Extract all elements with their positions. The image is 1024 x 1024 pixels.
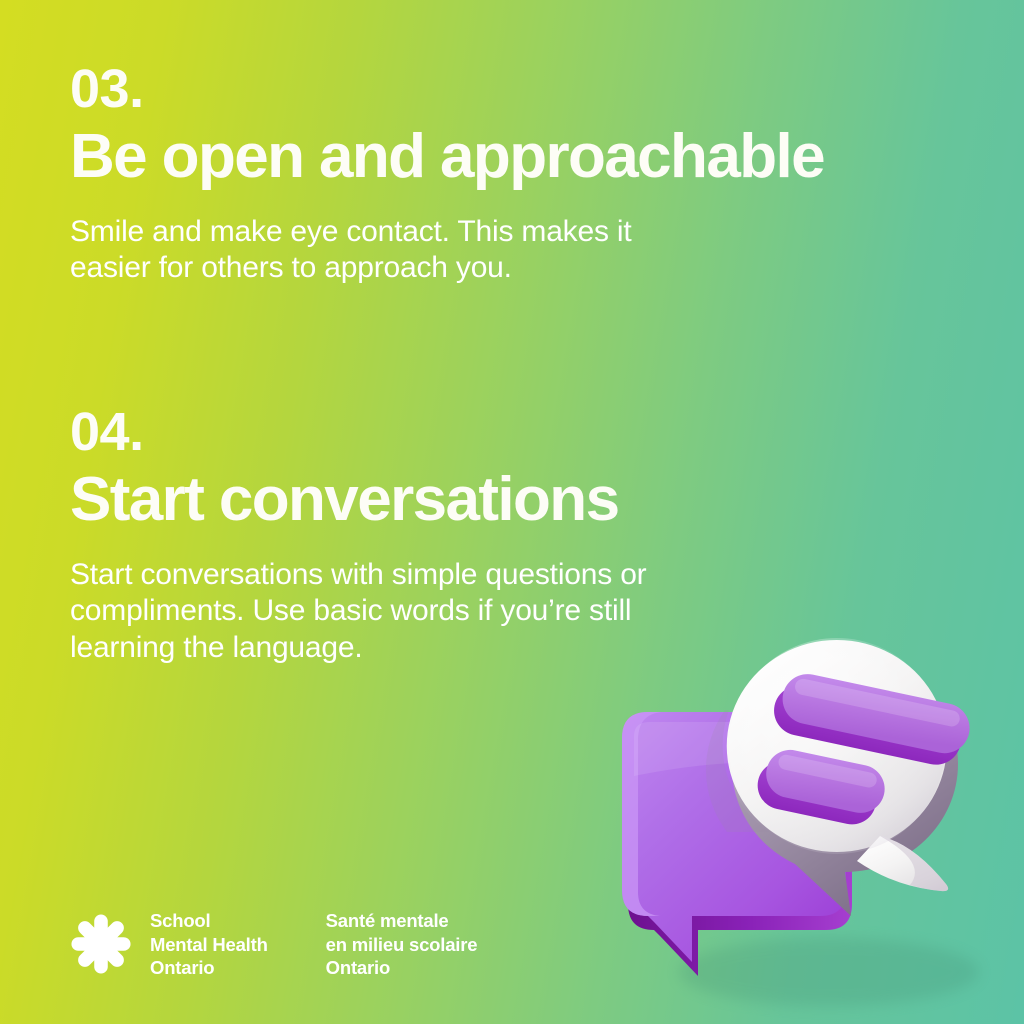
logo-wordmarks: School Mental Health Ontario Santé menta…: [150, 909, 477, 980]
flower-asterisk-icon: [70, 913, 132, 975]
logo-fr-line-3: Ontario: [326, 956, 478, 980]
logo-fr-line-1: Santé mentale: [326, 909, 478, 933]
social-card: 03. Be open and approachable Smile and m…: [0, 0, 1024, 1024]
logo-en-line-2: Mental Health: [150, 933, 268, 957]
tip-item-04: 04. Start conversations Start conversati…: [70, 405, 950, 667]
tip-title: Be open and approachable: [70, 124, 950, 190]
tip-number: 03.: [70, 62, 950, 116]
tip-body: Start conversations with simple question…: [70, 557, 670, 667]
logo-en-line-3: Ontario: [150, 956, 268, 980]
logo-fr-line-2: en milieu scolaire: [326, 933, 478, 957]
tips-content: 03. Be open and approachable Smile and m…: [70, 62, 950, 666]
tip-item-03: 03. Be open and approachable Smile and m…: [70, 62, 950, 287]
tip-title: Start conversations: [70, 467, 950, 533]
tip-body: Smile and make eye contact. This makes i…: [70, 214, 710, 287]
tip-number: 04.: [70, 405, 950, 459]
logo-en-line-1: School: [150, 909, 268, 933]
logo-wordmark-english: School Mental Health Ontario: [150, 909, 268, 980]
logo-lockup: School Mental Health Ontario Santé menta…: [70, 909, 477, 980]
logo-wordmark-french: Santé mentale en milieu scolaire Ontario: [326, 909, 478, 980]
